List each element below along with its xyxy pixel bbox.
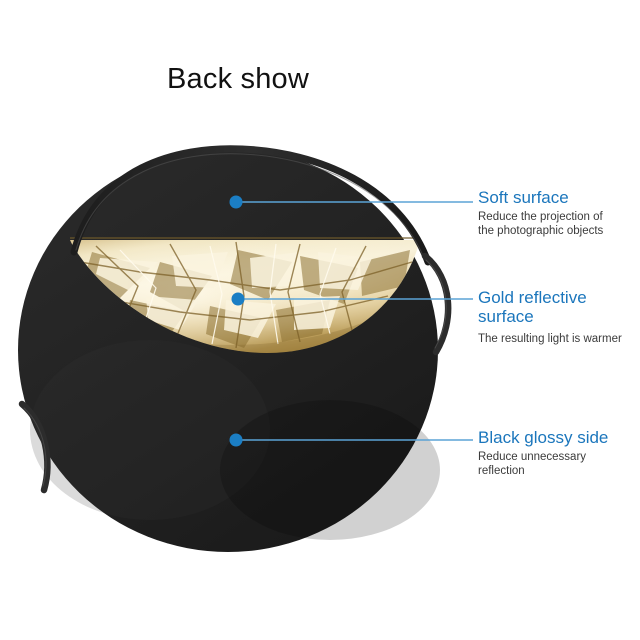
callout-soft-surface: Soft surface Reduce the projection ofthe…	[478, 188, 640, 238]
callout-title-soft-surface: Soft surface	[478, 188, 640, 207]
callout-marker-soft-surface[interactable]	[230, 196, 243, 209]
callout-title-black-side: Black glossy side	[478, 428, 640, 447]
callout-title-gold-surface: Gold reflective surface	[478, 288, 640, 326]
black-glossy-disc	[18, 148, 440, 552]
callout-desc-gold-surface: The resulting light is warmer	[478, 333, 640, 347]
callout-black-glossy-side: Black glossy side Reduce unnecessaryrefl…	[478, 428, 640, 478]
callout-desc-black-side: Reduce unnecessaryreflection	[478, 451, 640, 478]
callout-marker-black-side[interactable]	[230, 434, 243, 447]
callout-desc-soft-surface: Reduce the projection ofthe photographic…	[478, 211, 640, 238]
callout-marker-gold-surface[interactable]	[232, 293, 245, 306]
infographic-page: Back show	[0, 0, 640, 640]
callout-gold-reflective-surface: Gold reflective surface The resulting li…	[478, 288, 640, 347]
